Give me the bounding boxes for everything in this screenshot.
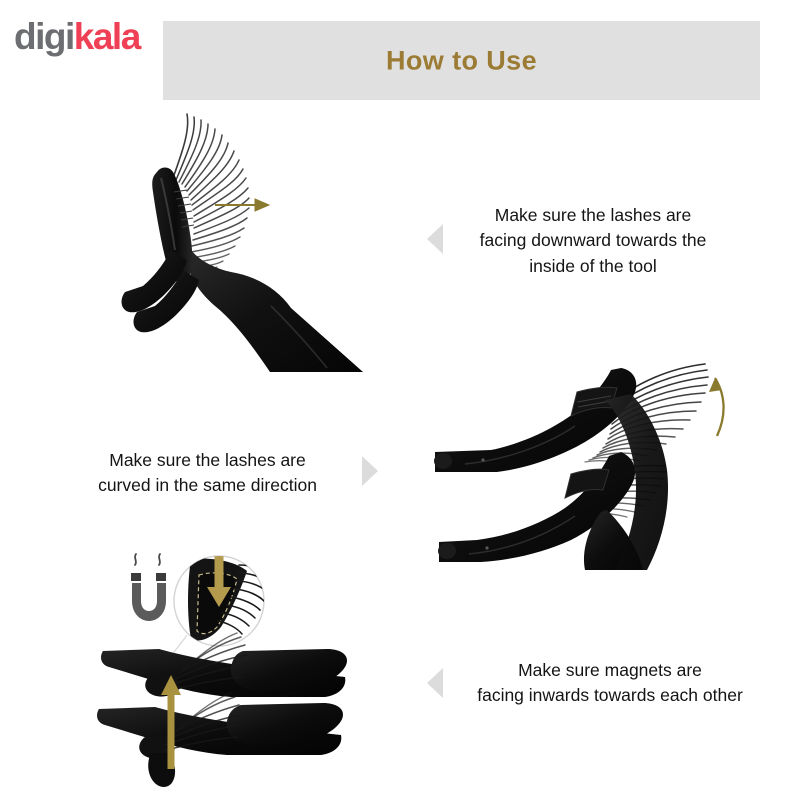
step-1-image	[95, 100, 395, 380]
step-3-caption-line-2: facing inwards towards each other	[455, 683, 765, 708]
step-1-caption: Make sure the lashes are facing downward…	[468, 203, 718, 279]
digikala-logo: digikala	[14, 18, 140, 55]
step-3-image	[95, 545, 405, 790]
logo-text-digi: digi	[14, 16, 74, 57]
step-1-caption-line-3: inside of the tool	[468, 254, 718, 279]
pointer-triangle-right-2	[362, 456, 378, 486]
header-banner: How to Use	[163, 21, 760, 100]
step-1-caption-line-1: Make sure the lashes are	[468, 203, 718, 228]
pointer-triangle-left-3	[427, 668, 443, 698]
step-3-caption-line-1: Make sure magnets are	[455, 658, 765, 683]
step-2-caption-line-2: curved in the same direction	[70, 473, 345, 498]
step-2-image	[425, 340, 755, 570]
step-2-caption-line-1: Make sure the lashes are	[70, 448, 345, 473]
step-1-caption-line-2: facing downward towards the	[468, 228, 718, 253]
pointer-triangle-left-1	[427, 224, 443, 254]
logo-text-kala: kala	[74, 16, 140, 57]
step-3-caption: Make sure magnets are facing inwards tow…	[455, 658, 765, 709]
page-title: How to Use	[163, 45, 760, 76]
step-2-caption: Make sure the lashes are curved in the s…	[70, 448, 345, 499]
